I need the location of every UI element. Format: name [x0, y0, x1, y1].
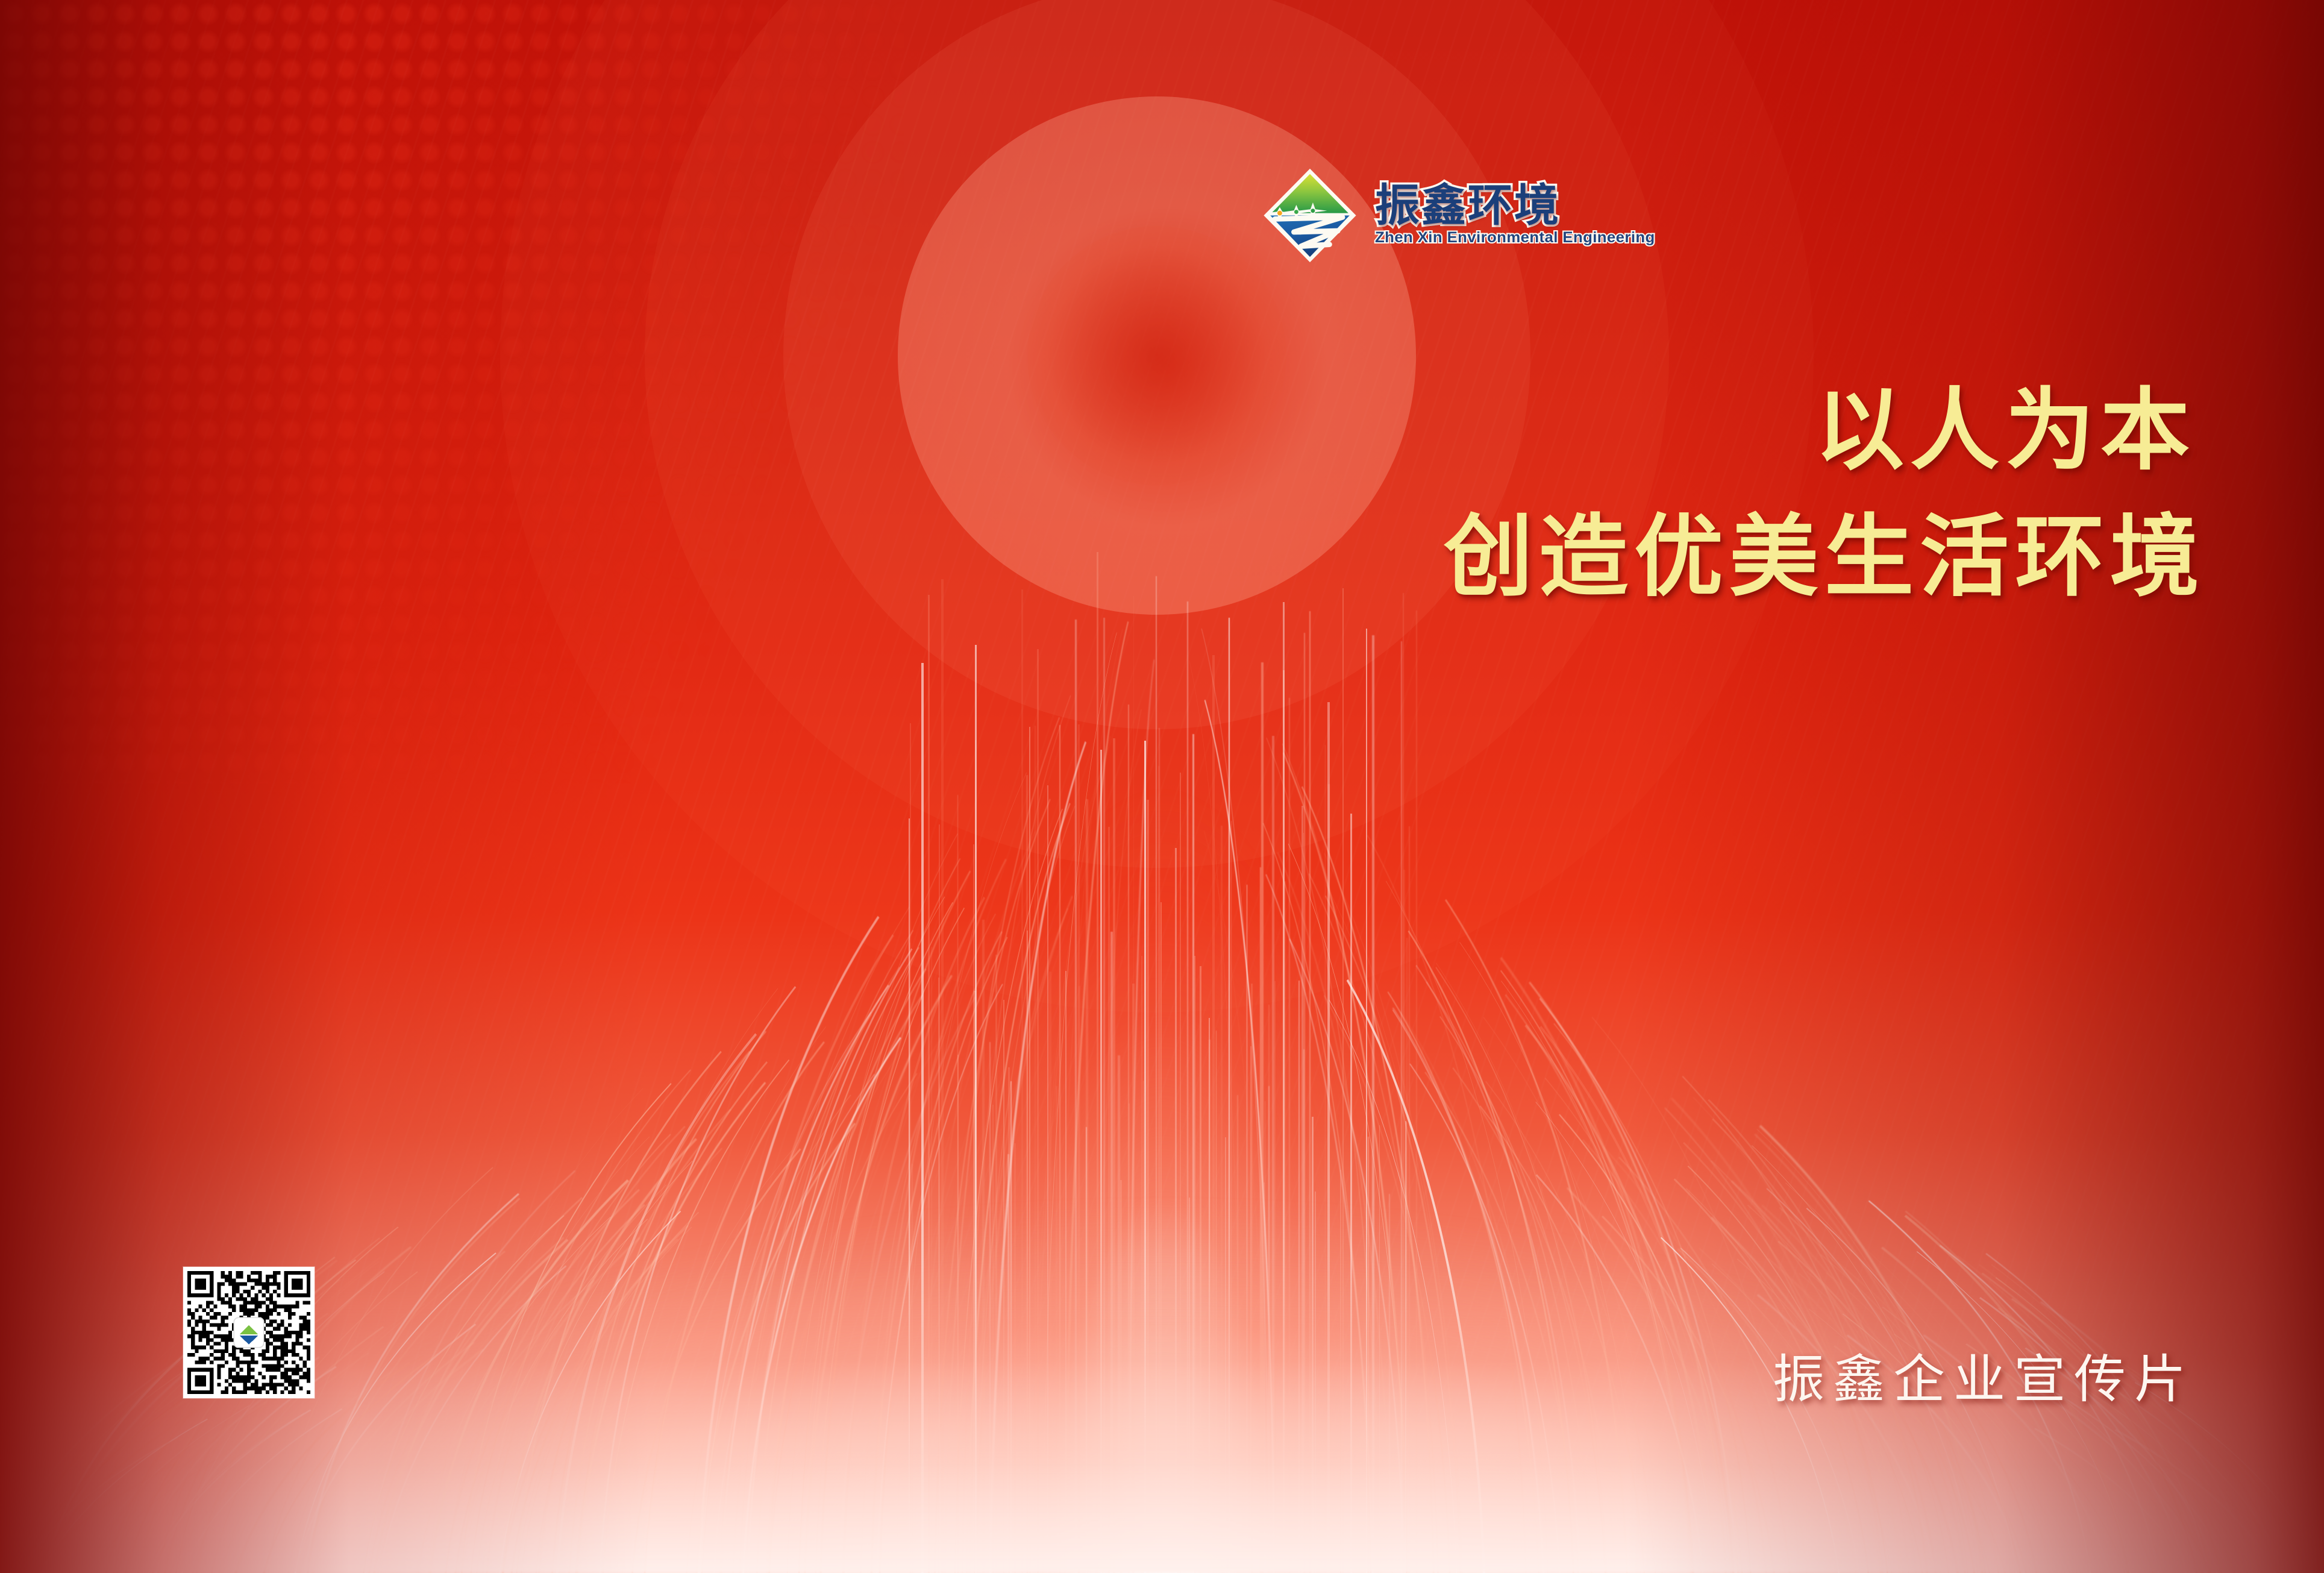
headline-line-2: 创造优美生活环境 [1265, 499, 2205, 615]
mountain-river-diamond-logo-icon [1259, 166, 1361, 265]
qr-code-icon [187, 1271, 310, 1394]
brand-name-cn: 振鑫环境 [1375, 184, 1561, 227]
headline-block: 以人为本 创造优美生活环境 [1265, 372, 2205, 615]
brand-wordmark: 振鑫环境 Zhen Xin Environmental Engineering [1375, 184, 1647, 246]
cover-artboard: 2套 卡片U盘 含U盘 博纳纸制品 [0, 0, 2324, 1573]
film-title: 振鑫企业宣传片 [1773, 1337, 2194, 1412]
headline-line-1: 以人为本 [1265, 372, 2205, 488]
brand-name-en: Zhen Xin Environmental Engineering [1375, 229, 1655, 246]
brand-logo-lockup[interactable]: 振鑫环境 Zhen Xin Environmental Engineering [1259, 166, 1647, 265]
qr-code[interactable] [183, 1267, 315, 1398]
